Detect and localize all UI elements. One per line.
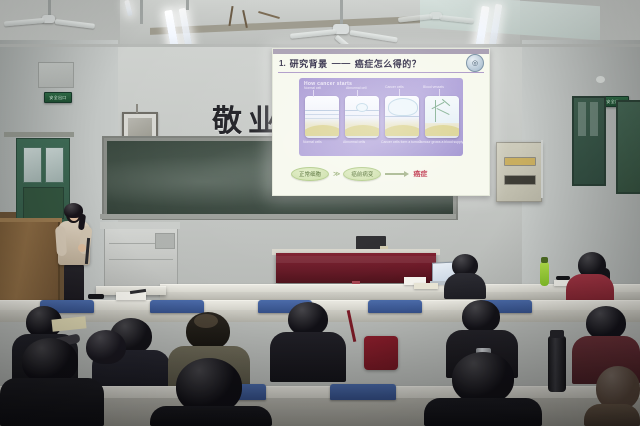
diagram-panel-4-lead: Blood vessels xyxy=(423,85,444,89)
diagram-panel-2-caption: Abnormal cells xyxy=(343,140,365,144)
cancer-diagram: How cancer starts Normal cell Normal cel… xyxy=(299,78,463,156)
slide-title: 1. 研究背景 —— 癌症怎么得的？ xyxy=(279,55,483,71)
flow-arrow-1-icon: ≫ xyxy=(333,170,339,178)
flow-step-1: 正常细胞 xyxy=(291,167,329,181)
slide-heading-dash: —— xyxy=(332,58,351,68)
ceiling-fan-rod-left xyxy=(48,0,51,16)
equipment-cabinet xyxy=(104,228,178,288)
front-desk-skirt-highlight xyxy=(276,256,436,263)
audience-torso xyxy=(424,398,542,426)
panel-conduit xyxy=(541,140,543,198)
lectern xyxy=(0,222,60,308)
flow-step-2: 癌前病变 xyxy=(343,167,381,181)
audience-torso xyxy=(444,273,486,299)
light-hanger-rod-1 xyxy=(140,0,143,24)
presenter-arm-left xyxy=(55,226,67,257)
presenter-legs xyxy=(64,263,84,305)
audience-torso-red xyxy=(566,274,614,302)
paper-held xyxy=(51,316,86,331)
chair-back-front[interactable] xyxy=(330,384,396,400)
audience-torso xyxy=(584,404,640,426)
green-bottle-cap xyxy=(541,257,548,263)
black-thermos-cap xyxy=(550,330,564,338)
audience-head xyxy=(288,302,328,336)
chair-back[interactable] xyxy=(368,300,422,313)
papers-far-row-2 xyxy=(414,283,438,289)
university-logo-icon: ◎ xyxy=(466,54,484,72)
red-handbag[interactable] xyxy=(364,336,398,370)
exit-sign-left-label: 安全出口 xyxy=(49,95,66,101)
audience-head-balding xyxy=(186,312,230,350)
audience-head xyxy=(452,352,514,404)
window-pane xyxy=(578,102,586,136)
audience-torso xyxy=(0,378,104,426)
diagram-panel-1-lead: Normal cell xyxy=(304,86,321,90)
audience-torso xyxy=(270,332,346,382)
cabinet-top xyxy=(100,222,180,229)
window-pane xyxy=(590,102,598,136)
audience-torso xyxy=(150,406,272,426)
flow-result: 癌症 xyxy=(413,169,427,179)
power-panel-switch-top[interactable] xyxy=(504,157,536,166)
power-panel-switch-bottom[interactable] xyxy=(504,175,536,185)
slide-top-bar xyxy=(273,49,489,54)
diagram-panel-3-caption: Cancer cells form a tumour xyxy=(381,140,422,144)
diagram-panel-2-lead: Abnormal cell xyxy=(346,86,367,90)
exit-sign-left: 安全出口 xyxy=(44,92,72,103)
door-glass-pane xyxy=(23,147,42,183)
door-glass-pane xyxy=(45,147,64,183)
green-water-bottle[interactable] xyxy=(540,262,549,286)
light-hanger-rod-2 xyxy=(186,0,189,10)
smartphone-far[interactable] xyxy=(556,276,570,280)
lecture-hall-photo: 安全出口 安全出口 敬业 校训学生守则 xyxy=(0,0,640,426)
wall-clock-face xyxy=(128,118,152,138)
diagram-panel-3-lead: Cancer cells xyxy=(385,85,404,89)
wall-light-right xyxy=(596,76,605,83)
clock-hanger xyxy=(136,104,138,113)
audience-head xyxy=(462,300,500,333)
presenter-hand xyxy=(78,244,86,252)
diagram-panel-4-caption: Tumour grows a blood supply xyxy=(419,140,463,144)
diagram-panel-2 xyxy=(345,96,379,138)
chalk-tray xyxy=(100,214,456,219)
slide-title-rule xyxy=(278,72,484,73)
chair-back[interactable] xyxy=(150,300,204,313)
black-thermos[interactable] xyxy=(548,336,566,392)
diagram-panel-4 xyxy=(425,96,459,138)
diagram-panel-3 xyxy=(385,96,419,138)
power-panel[interactable] xyxy=(496,142,542,202)
wall-trim xyxy=(0,44,640,47)
window-frame-far-right xyxy=(616,100,640,194)
flow-arrow-2-icon xyxy=(385,171,409,177)
slide-number: 1. xyxy=(279,59,286,68)
cabinet-knob[interactable] xyxy=(155,233,175,249)
smartphone-middle[interactable] xyxy=(88,294,104,299)
door-header xyxy=(4,132,74,137)
slide-heading-accent: 癌症怎么得的？ xyxy=(355,57,422,70)
slide-flow-diagram: 正常细胞 ≫ 癌前病变 癌症 xyxy=(291,165,471,183)
diagram-panel-1-caption: Normal cells xyxy=(303,140,322,144)
door-lower-panel xyxy=(23,187,64,219)
slide-heading: 研究背景 xyxy=(290,57,328,70)
audience-head xyxy=(586,306,626,340)
basement-membrane xyxy=(305,125,339,136)
classroom-door[interactable] xyxy=(16,138,70,226)
projection-screen: 1. 研究背景 —— 癌症怎么得的？ ◎ How cancer starts N… xyxy=(272,48,490,196)
audience-head xyxy=(86,330,126,364)
audience-scalp xyxy=(194,314,218,328)
wall-mounted-box-left xyxy=(38,62,74,88)
ceiling-fan-rod-center xyxy=(340,0,343,26)
diagram-panel-1 xyxy=(305,96,339,138)
